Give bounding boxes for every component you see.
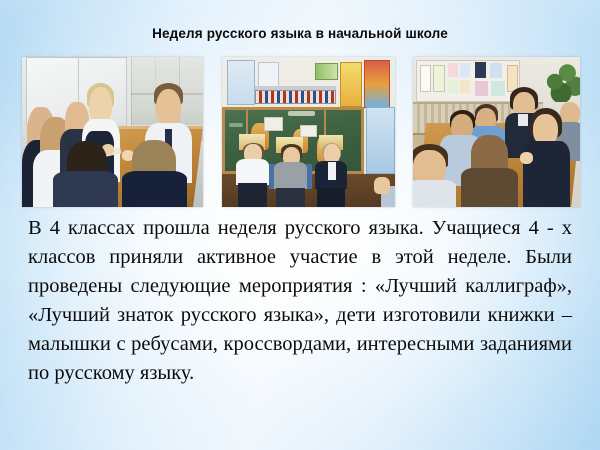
boy-right-head — [156, 89, 181, 128]
presentation-slide: Неделя русского языка в начальной школе — [0, 0, 600, 450]
notice-2 — [433, 65, 445, 92]
girl-right-hand — [520, 152, 533, 164]
notice-3 — [448, 63, 458, 77]
chalk-writing-2 — [229, 123, 243, 127]
notice-5 — [448, 80, 458, 94]
child-1-shirt — [236, 159, 269, 185]
chalk-writing — [288, 111, 316, 116]
notice-8 — [490, 63, 502, 78]
child-2-trousers — [276, 188, 305, 208]
wall-poster-a — [227, 60, 255, 105]
notice-9 — [475, 81, 488, 96]
notice-1 — [420, 65, 432, 92]
photo-classroom-group-work — [22, 57, 203, 207]
numberline-strip — [255, 90, 336, 104]
wall-poster-c — [315, 63, 337, 80]
child-2-vest — [274, 162, 307, 189]
raised-hand — [374, 177, 390, 194]
board-card-1 — [264, 117, 283, 131]
child-3-skirt — [317, 188, 345, 208]
notice-7 — [475, 62, 487, 79]
photo-2-content — [222, 57, 395, 207]
wall-poster-e — [364, 60, 390, 108]
page-title: Неделя русского языка в начальной школе — [0, 26, 600, 41]
photo-strip — [22, 57, 580, 207]
teacher-collar — [518, 114, 528, 126]
body-paragraph: В 4 классах прошла неделя русского языка… — [28, 214, 572, 388]
foreground-student-body-2 — [122, 171, 187, 207]
notice-10 — [491, 81, 504, 96]
photo-kids-at-table-with-papers — [413, 57, 580, 207]
child-3-shirt — [328, 162, 337, 180]
child-1-skirt — [238, 183, 267, 207]
photo-1-content — [22, 57, 203, 207]
slide-body-text: В 4 классах прошла неделя русского языка… — [28, 214, 572, 388]
notice-4 — [460, 63, 470, 77]
foreground-student-body-1 — [53, 171, 118, 207]
photo-3-content — [413, 57, 580, 207]
girl-right-body — [523, 141, 570, 207]
boy-left-body — [413, 180, 456, 207]
side-poster — [366, 107, 395, 175]
photo-kids-with-crowns-at-blackboard — [222, 57, 395, 207]
notice-6 — [460, 80, 470, 94]
potted-plant — [538, 57, 580, 102]
board-card-2 — [300, 125, 317, 137]
wall-poster-d — [340, 62, 362, 107]
foreground-girl-body — [461, 168, 518, 207]
